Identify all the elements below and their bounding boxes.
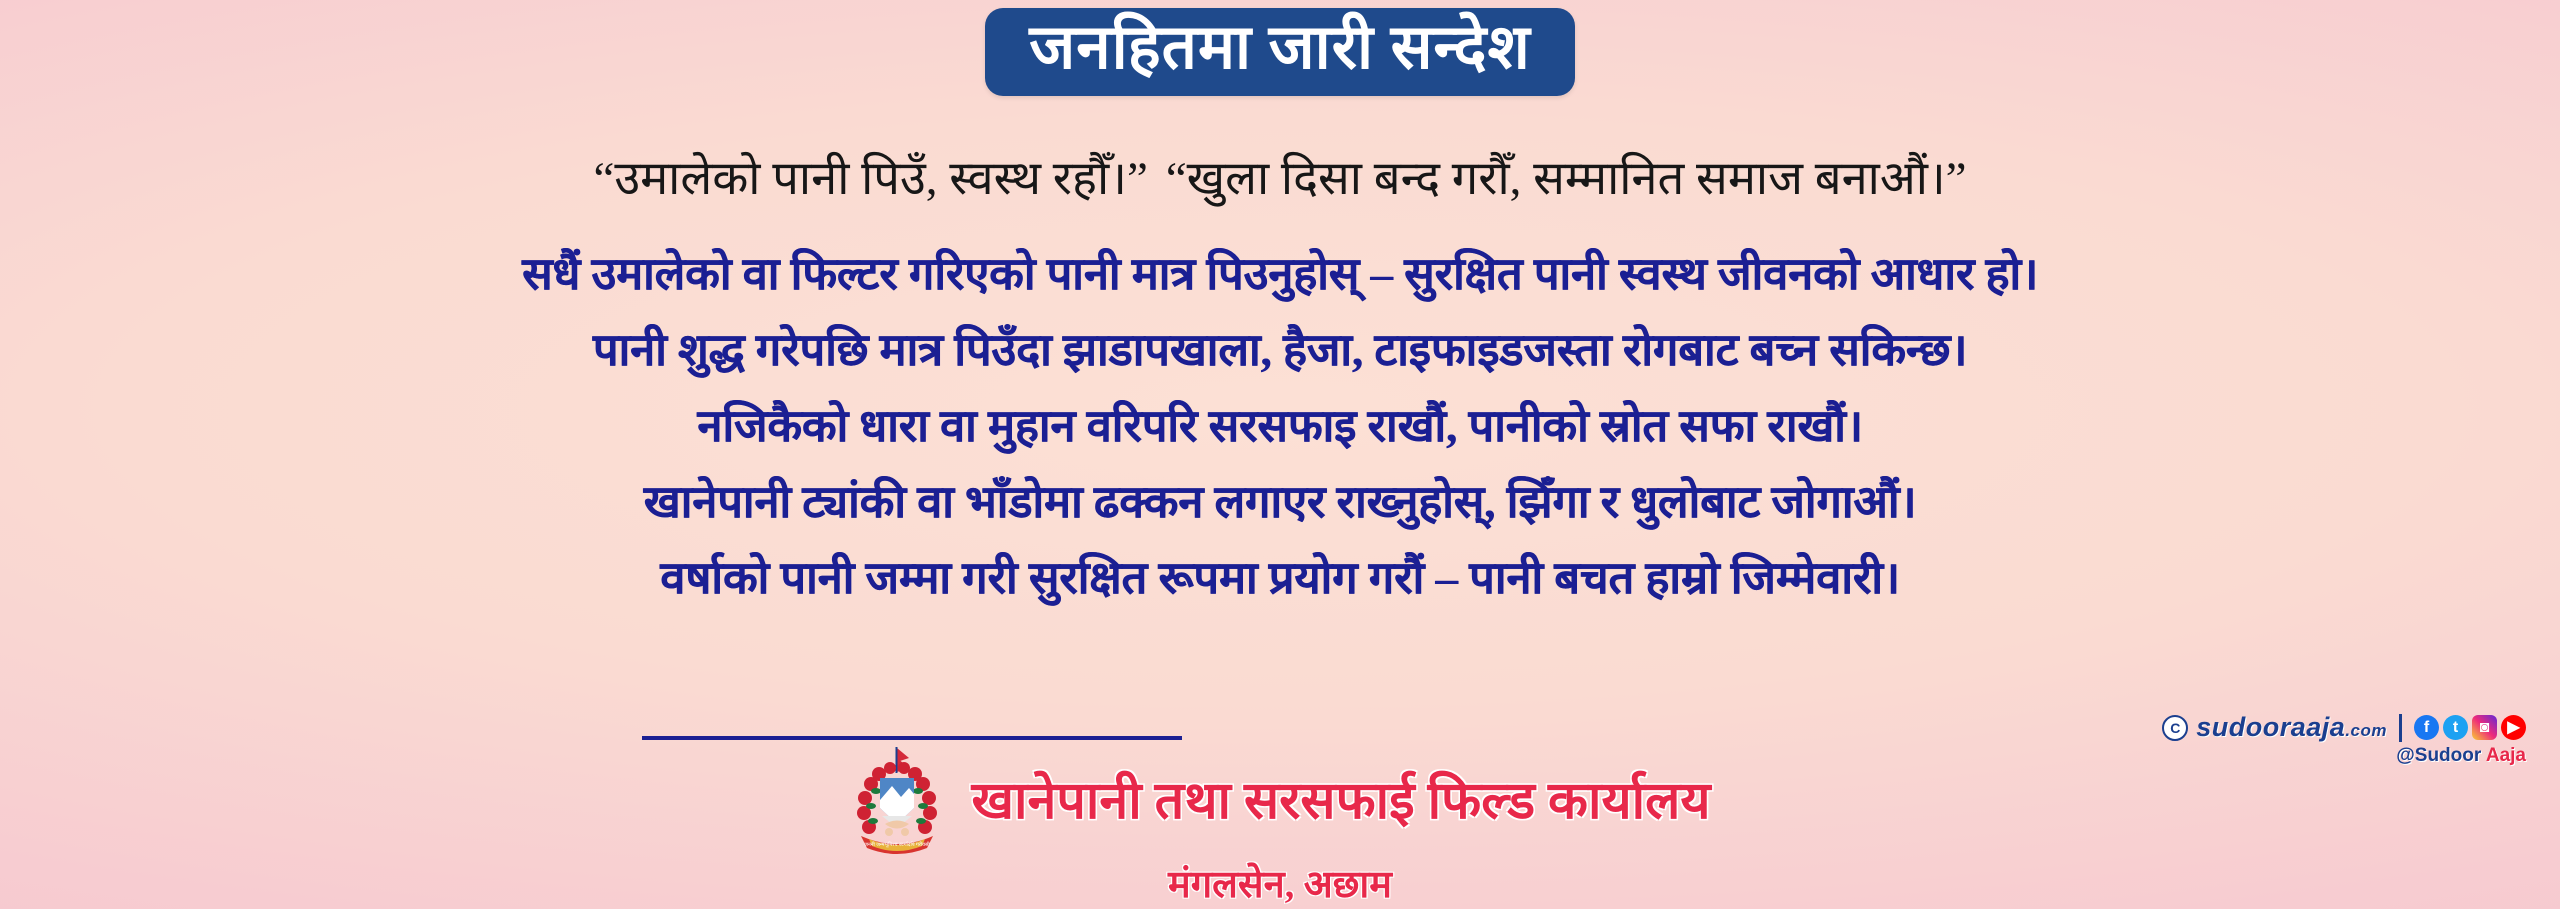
watermark-top-row: C sudooraaja.com f t ◙ ▶ xyxy=(2162,712,2526,743)
watermark-handle: @Sudoor Aaja xyxy=(2396,745,2526,767)
youtube-icon[interactable]: ▶ xyxy=(2501,715,2526,740)
watermark-handle-prefix: @Sudoor xyxy=(2396,745,2481,766)
footer: जननी जन्मभूमिश्च स्वर्गादपि गरीयसी खानेप… xyxy=(0,744,2560,906)
twitter-icon[interactable]: t xyxy=(2443,715,2468,740)
quote-line: “उमालेको पानी पिउँ, स्वस्थ रहौँ।”“खुला द… xyxy=(0,152,2560,207)
message-line-1: सधैं उमालेको वा फिल्टर गरिएको पानी मात्र… xyxy=(0,252,2560,297)
quote-1: “उमालेको पानी पिउँ, स्वस्थ रहौँ।” xyxy=(593,153,1147,205)
instagram-icon[interactable]: ◙ xyxy=(2472,715,2497,740)
watermark-separator xyxy=(2399,714,2402,742)
message-line-5: वर्षाको पानी जम्मा गरी सुरक्षित रूपमा प्… xyxy=(0,556,2560,601)
copyright-icon: C xyxy=(2162,715,2188,741)
public-awareness-poster: जनहितमा जारी सन्देश “उमालेको पानी पिउँ, … xyxy=(0,0,2560,909)
svg-text:जननी जन्मभूमिश्च स्वर्गादपि गर: जननी जन्मभूमिश्च स्वर्गादपि गरीयसी xyxy=(865,841,931,848)
watermark-handle-suffix: Aaja xyxy=(2486,745,2526,766)
facebook-icon[interactable]: f xyxy=(2414,715,2439,740)
message-line-4: खानेपानी ट्यांकी वा भाँडोमा ढक्कन लगाएर … xyxy=(0,480,2560,525)
quote-2: “खुला दिसा बन्द गरौँ, सम्मानित समाज बनाऔ… xyxy=(1166,153,1967,205)
social-icons: f t ◙ ▶ xyxy=(2414,715,2526,740)
watermark-brand-name: sudooraaja xyxy=(2196,712,2345,742)
office-location: मंगलसेन, अछाम xyxy=(1168,866,1392,906)
page-title: जनहितमा जारी सन्देश xyxy=(1029,14,1531,82)
footer-divider xyxy=(642,736,1182,740)
office-row: जननी जन्मभूमिश्च स्वर्गादपि गरीयसी खानेप… xyxy=(849,744,1710,860)
nepal-government-emblem-icon: जननी जन्मभूमिश्च स्वर्गादपि गरीयसी xyxy=(849,744,945,860)
title-banner: जनहितमा जारी सन्देश xyxy=(985,8,1575,96)
message-line-3: नजिकैको धारा वा मुहान वरिपरि सरसफाइ राखौ… xyxy=(0,404,2560,449)
watermark-brand: sudooraaja.com xyxy=(2196,712,2387,743)
watermark-brand-tld: .com xyxy=(2345,721,2387,740)
title-banner-wrap: जनहितमा जारी सन्देश xyxy=(0,8,2560,96)
watermark: C sudooraaja.com f t ◙ ▶ @Sudoor Aaja xyxy=(2162,712,2526,767)
message-line-2: पानी शुद्ध गरेपछि मात्र पिउँदा झाडापखाला… xyxy=(0,328,2560,373)
message-list: सधैं उमालेको वा फिल्टर गरिएको पानी मात्र… xyxy=(0,252,2560,632)
office-name: खानेपानी तथा सरसफाई फिल्ड कार्यालय xyxy=(971,775,1710,830)
